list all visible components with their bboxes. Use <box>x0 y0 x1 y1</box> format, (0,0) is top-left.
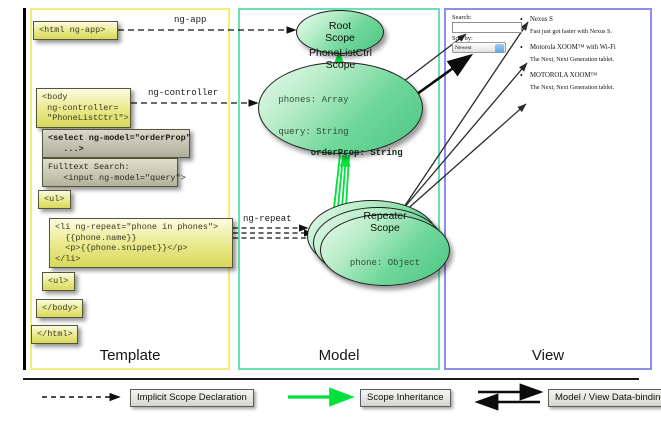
scope-root-title-1: Root <box>329 20 351 32</box>
phone-snippet: Fast just got faster with Nexus S. <box>520 28 650 35</box>
panel-label-view: View <box>446 347 650 364</box>
legend-data-binding: Model / View Data-binding <box>548 389 661 407</box>
phone-name: Nexus S <box>520 16 650 23</box>
scope-phonelist-title-2: Scope <box>326 59 356 71</box>
scope-root-title-2: Scope <box>325 32 355 44</box>
list-item[interactable]: MOTOROLA XOOM™ The Next, Next Generation… <box>520 72 650 91</box>
edge-label-ng-app: ng-app <box>174 15 206 25</box>
scope-phonelistctrl: PhoneListCtrl Scope phones: Array query:… <box>258 62 423 154</box>
code-box-body-close: </body> <box>36 299 83 318</box>
code-box-ul-open: <ul> <box>38 190 71 209</box>
edge-label-ng-controller: ng-controller <box>148 88 218 98</box>
scope-prop-query: query: String <box>278 127 402 138</box>
phone-snippet: The Next, Next Generation tablet. <box>520 56 650 63</box>
scope-prop-phone: phone: Object <box>350 258 420 269</box>
scope-repeater: Repeater Scope phone: Object <box>320 214 450 286</box>
phone-name: MOTOROLA XOOM™ <box>520 72 650 79</box>
code-box-search-input: Fulltext Search: <input ng-model="query"… <box>42 158 178 187</box>
scope-phonelist-title-1: PhoneListCtrl <box>309 47 372 59</box>
sort-select[interactable]: Newest <box>452 42 506 53</box>
sort-select-value: Newest <box>455 45 472 51</box>
code-box-html-tag: <html ng-app> <box>33 21 118 40</box>
diagram-canvas: Template Model View <box>0 0 661 425</box>
scope-prop-phones: phones: Array <box>278 95 402 106</box>
scope-repeater-title-2: Scope <box>370 222 400 234</box>
edge-label-ng-repeat: ng-repeat <box>243 214 292 224</box>
phone-list: Nexus S Fast just got faster with Nexus … <box>520 16 650 100</box>
scope-repeater-title-1: Repeater <box>363 210 406 222</box>
left-vertical-rule <box>23 8 26 370</box>
list-item[interactable]: Motorola XOOM™ with Wi-Fi The Next, Next… <box>520 44 650 63</box>
code-box-select-tag: <select ng-model="orderProp" ...> <box>42 129 190 158</box>
code-box-body-tag: <body ng-controller= "PhoneListCtrl"> <box>36 88 131 128</box>
legend-implicit-scope: Implicit Scope Declaration <box>130 389 254 407</box>
search-input[interactable] <box>452 22 522 33</box>
panel-label-model: Model <box>240 347 438 364</box>
code-box-li-repeat: <li ng-repeat="phone in phones"> {{phone… <box>49 218 233 268</box>
list-item[interactable]: Nexus S Fast just got faster with Nexus … <box>520 16 650 35</box>
scope-prop-orderprop: orderProp: String <box>311 148 403 158</box>
phone-snippet: The Next, Next Generation tablet. <box>520 84 650 91</box>
panel-label-template: Template <box>32 347 228 364</box>
phone-name: Motorola XOOM™ with Wi-Fi <box>520 44 650 51</box>
legend-scope-inherit: Scope Inheritance <box>360 389 451 407</box>
chevron-updown-icon <box>495 44 504 53</box>
code-box-ul-close: <ul> <box>42 272 75 291</box>
legend-glyph-databinding <box>478 392 540 402</box>
legend-divider <box>23 378 639 380</box>
code-box-html-close: </html> <box>31 325 78 344</box>
